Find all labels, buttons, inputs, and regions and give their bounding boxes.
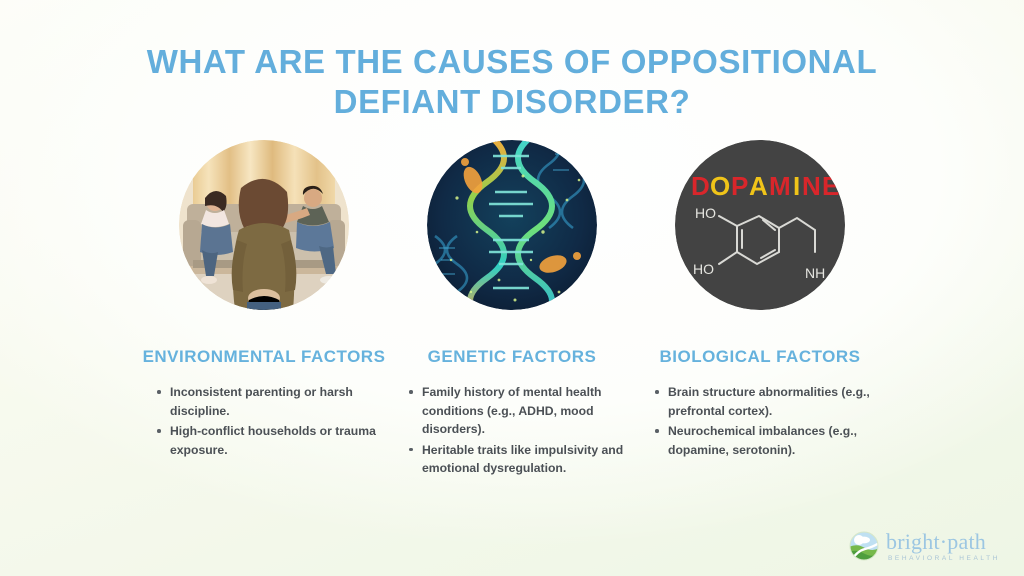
page-title: WHAT ARE THE CAUSES OF OPPOSITIONAL DEFI… [0, 42, 1024, 122]
svg-text:E: E [822, 171, 839, 201]
bullet-list-environmental: Inconsistent parenting or harsh discipli… [140, 383, 388, 461]
svg-text:A: A [749, 171, 768, 201]
brightpath-logo-name: bright·path [886, 531, 1000, 553]
list-item: Heritable traits like impulsivity and em… [406, 441, 636, 478]
brightpath-logo-text: bright·path BEHAVIORAL HEALTH [886, 531, 1000, 563]
dopamine-chalkboard-photo: D O P A M I N E [675, 140, 845, 310]
svg-text:NH: NH [805, 265, 825, 281]
svg-text:D: D [691, 171, 710, 201]
family-on-couch-photo [179, 140, 349, 310]
list-item: Neurochemical imbalances (e.g., dopamine… [652, 422, 884, 459]
svg-text:HO: HO [695, 205, 716, 221]
bullet-list-genetic: Family history of mental health conditio… [388, 383, 636, 480]
column-heading-genetic: GENETIC FACTORS [428, 342, 597, 371]
column-heading-biological: BIOLOGICAL FACTORS [659, 342, 860, 371]
svg-text:I: I [793, 171, 800, 201]
dna-double-helix-photo [427, 140, 597, 310]
list-item: Inconsistent parenting or harsh discipli… [154, 383, 388, 420]
brightpath-logo-tagline: BEHAVIORAL HEALTH [888, 556, 1000, 563]
bullet-list-biological: Brain structure abnormalities (e.g., pre… [636, 383, 884, 461]
causes-columns: ENVIRONMENTAL FACTORS Inconsistent paren… [140, 140, 884, 480]
svg-text:M: M [769, 171, 791, 201]
column-biological-factors: D O P A M I N E [636, 140, 884, 480]
svg-text:O: O [710, 171, 730, 201]
svg-text:HO: HO [693, 261, 714, 277]
page-title-line-2: DEFIANT DISORDER? [0, 82, 1024, 122]
svg-text:P: P [731, 171, 748, 201]
brightpath-logo-icon [849, 531, 879, 561]
svg-text:N: N [802, 171, 821, 201]
column-genetic-factors: GENETIC FACTORS Family history of mental… [388, 140, 636, 480]
page-title-line-1: WHAT ARE THE CAUSES OF OPPOSITIONAL [0, 42, 1024, 82]
column-heading-environmental: ENVIRONMENTAL FACTORS [143, 342, 386, 371]
list-item: Family history of mental health conditio… [406, 383, 636, 439]
list-item: Brain structure abnormalities (e.g., pre… [652, 383, 884, 420]
brightpath-logo: bright·path BEHAVIORAL HEALTH [849, 531, 1000, 563]
column-environmental-factors: ENVIRONMENTAL FACTORS Inconsistent paren… [140, 140, 388, 480]
list-item: High-conflict households or trauma expos… [154, 422, 388, 459]
